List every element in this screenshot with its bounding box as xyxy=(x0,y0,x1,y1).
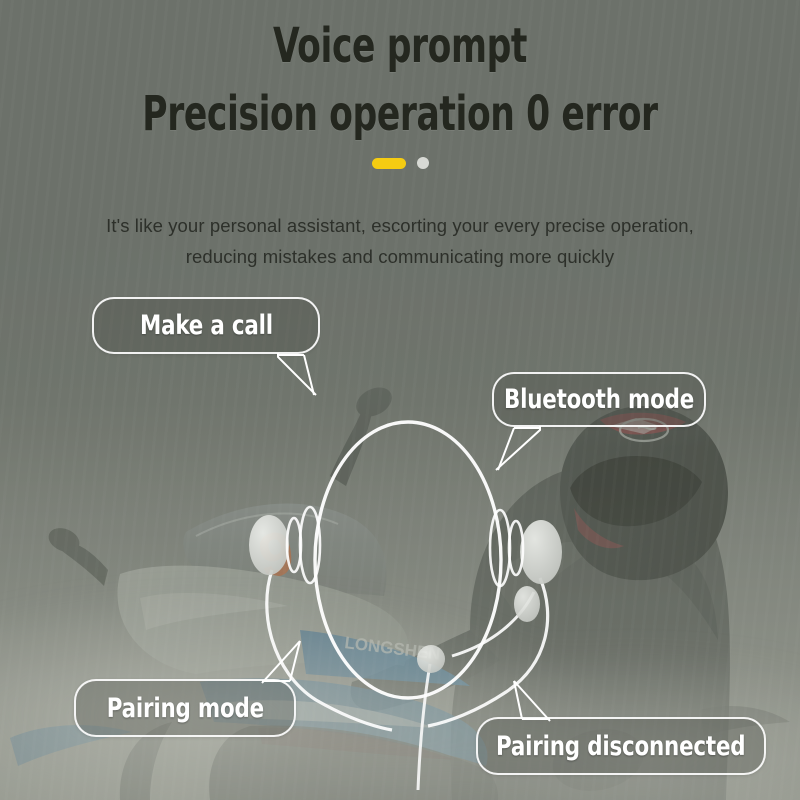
description-line-1: It's like your personal assistant, escor… xyxy=(60,210,740,241)
callout-pairing-mode[interactable]: Pairing mode xyxy=(74,679,296,737)
description-text: It's like your personal assistant, escor… xyxy=(60,210,740,272)
carousel-indicator[interactable] xyxy=(0,157,800,169)
description-line-2: reducing mistakes and communicating more… xyxy=(60,241,740,272)
callout-bluetooth-mode-label: Bluetooth mode xyxy=(504,386,694,413)
callout-pairing-mode-label: Pairing mode xyxy=(106,695,263,722)
page-subtitle-heading: Precision operation 0 error xyxy=(80,90,720,138)
carousel-dot-active[interactable] xyxy=(372,158,406,169)
callout-pairing-disconnected-label: Pairing disconnected xyxy=(496,733,745,760)
callout-make-a-call-label: Make a call xyxy=(140,312,273,339)
callout-bluetooth-mode[interactable]: Bluetooth mode xyxy=(492,372,706,427)
carousel-dot-2[interactable] xyxy=(417,157,429,169)
promo-banner: 9 LONGSHEN xyxy=(0,0,800,800)
page-title: Voice prompt xyxy=(80,22,720,70)
callout-pairing-disconnected[interactable]: Pairing disconnected xyxy=(476,717,766,775)
headline-block: Voice prompt Precision operation 0 error xyxy=(0,8,800,138)
callout-make-a-call[interactable]: Make a call xyxy=(92,297,320,354)
